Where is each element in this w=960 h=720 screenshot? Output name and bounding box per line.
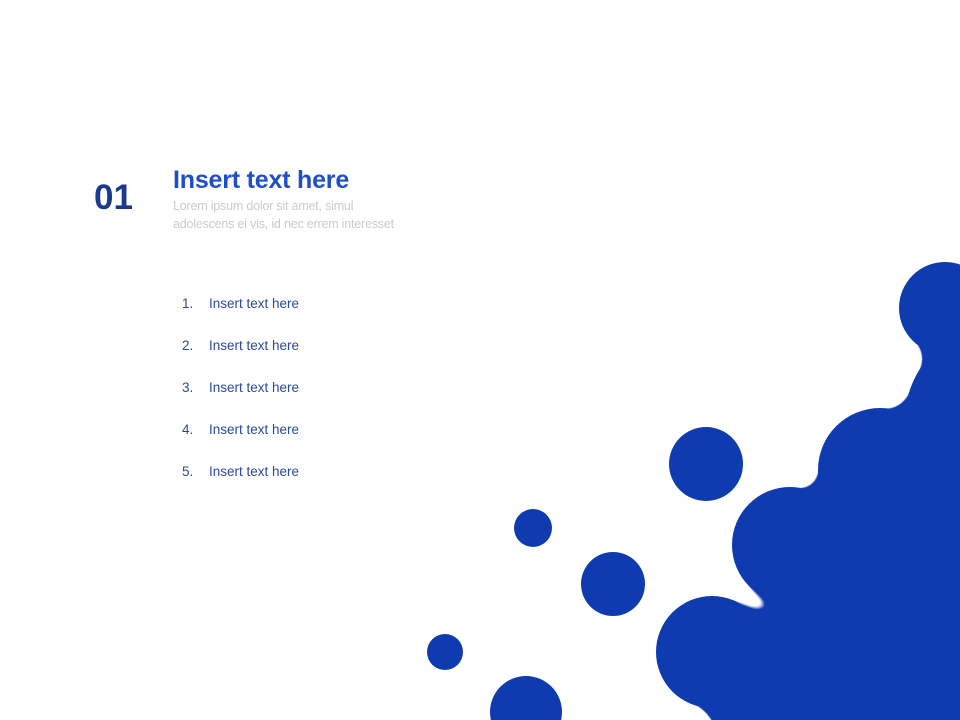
step-number: 01	[94, 180, 133, 215]
list-item-marker: 2.	[182, 338, 206, 353]
list-item-marker: 3.	[182, 380, 206, 395]
list-item-label: Insert text here	[209, 464, 299, 479]
numbered-list: 1.Insert text here2.Insert text here3.In…	[182, 296, 482, 506]
list-item-label: Insert text here	[209, 296, 299, 311]
list-item-label: Insert text here	[209, 380, 299, 395]
heading-text-block: Insert text here Lorem ipsum dolor sit a…	[173, 166, 433, 234]
list-item[interactable]: 1.Insert text here	[182, 296, 482, 338]
list-item[interactable]: 5.Insert text here	[182, 464, 482, 506]
slide-content: 01 Insert text here Lorem ipsum dolor si…	[0, 0, 960, 720]
page-title: Insert text here	[173, 166, 433, 194]
slide-canvas: 01 Insert text here Lorem ipsum dolor si…	[0, 0, 960, 720]
list-item[interactable]: 4.Insert text here	[182, 422, 482, 464]
list-item-marker: 5.	[182, 464, 206, 479]
list-item-label: Insert text here	[209, 422, 299, 437]
list-item-marker: 1.	[182, 296, 206, 311]
list-item[interactable]: 2.Insert text here	[182, 338, 482, 380]
list-item[interactable]: 3.Insert text here	[182, 380, 482, 422]
page-subtitle: Lorem ipsum dolor sit amet, simul adoles…	[173, 198, 398, 234]
list-item-label: Insert text here	[209, 338, 299, 353]
list-item-marker: 4.	[182, 422, 206, 437]
